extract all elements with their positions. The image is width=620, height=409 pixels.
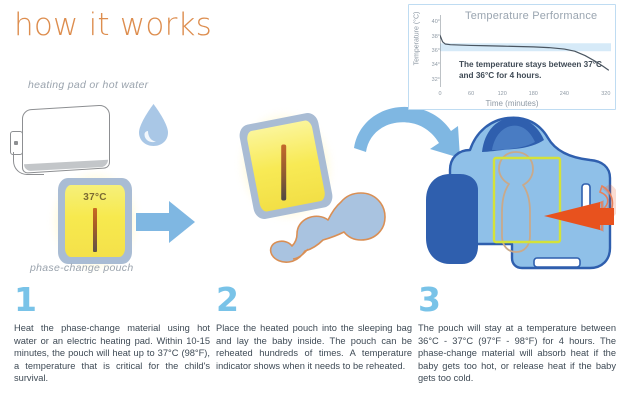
pouch-temperature-label: 37°C <box>58 192 132 203</box>
chart-annotation: The temperature stays between 37°C and 3… <box>459 59 609 81</box>
temperature-indicator-strip <box>93 208 97 252</box>
chart-x-tick-label: 320 <box>601 91 610 97</box>
step-text: Heat the phase-change material using hot… <box>14 322 210 385</box>
chart-y-tick-label: 36° <box>432 48 440 54</box>
chart-y-tick-label: 40° <box>432 19 440 25</box>
chart-y-tick-label: 38° <box>432 34 440 40</box>
sleeping-bag-icon <box>404 112 616 284</box>
right-arrow-icon <box>136 199 196 245</box>
chart-x-tick-label: 120 <box>498 91 507 97</box>
step-text: Place the heated pouch into the sleeping… <box>216 322 412 372</box>
phase-change-pouch-icon: 37°C <box>58 178 132 264</box>
chart-y-tick-label: 32° <box>432 77 440 83</box>
step-3: 3 The pouch will stay at a temperature b… <box>418 284 616 385</box>
step-2: 2 Place the heated pouch into the sleepi… <box>216 284 412 372</box>
step-number: 1 <box>14 284 210 316</box>
step-number: 3 <box>418 284 616 316</box>
water-drop-icon <box>137 103 170 147</box>
step-text: The pouch will stay at a temperature bet… <box>418 322 616 385</box>
infographic-page: how it works heating pad or hot water 37… <box>0 0 620 409</box>
baby-icon <box>268 183 393 278</box>
chart-x-tick-label: 60 <box>468 91 474 97</box>
chart-y-tick-label: 34° <box>432 62 440 68</box>
chart-y-axis-label: Temperature (°C) <box>414 7 421 71</box>
temperature-performance-chart: Temperature Performance Temperature (°C)… <box>408 4 616 110</box>
chart-x-tick-label: 180 <box>529 91 538 97</box>
step-number: 2 <box>216 284 412 316</box>
step-1: 1 Heat the phase-change material using h… <box>14 284 210 385</box>
chart-x-axis-label: Time (minutes) <box>409 99 615 108</box>
chart-x-tick-label: 240 <box>560 91 569 97</box>
heating-source-caption: heating pad or hot water <box>28 79 148 91</box>
chart-y-ticks: 32°34°36°38°40° <box>423 5 440 109</box>
page-title: how it works <box>14 8 212 42</box>
heating-pad-cord <box>13 152 44 175</box>
phase-change-pouch-caption: phase-change pouch <box>30 262 133 274</box>
chart-x-tick-label: 0 <box>438 91 441 97</box>
